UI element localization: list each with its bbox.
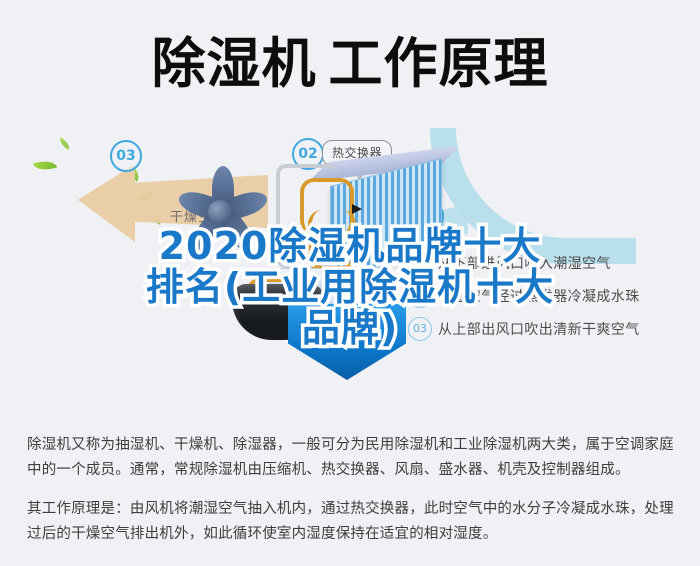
working-principle-diagram: 干燥空气 03 潮湿空气 01 02 热交换器 水箱 [0,118,700,408]
step-number: 03 [408,317,432,341]
title-segment-product: 除湿机 [152,32,317,95]
step-number: 01 [408,251,432,275]
body-paragraph-2: 其工作原理是：由风机将潮湿空气抽入机内，通过热交换器，此时空气中的水分子冷凝成水… [27,497,675,547]
step-number: 02 [408,284,432,308]
fan-hub [208,200,232,224]
leaf-icon [33,157,57,174]
title-text: 除湿机工作原理 [152,37,549,91]
step-text: 潮湿空气经过蒸发器冷凝成水珠 [438,286,640,306]
page-title: 除湿机工作原理 [0,28,700,100]
article-body: 除湿机又称为抽湿机、干燥机、除湿器，一般可分为民用除湿机和工业除湿机两大类，属于… [27,418,675,562]
step-item: 02 潮湿空气经过蒸发器冷凝成水珠 [408,279,694,312]
flow-arrow-icon [352,204,362,214]
leaf-icon [57,137,72,150]
badge-03: 03 [110,140,142,172]
water-tank-icon [288,304,406,380]
step-annotation-list: 01 从下部进风口吸入潮湿空气 02 潮湿空气经过蒸发器冷凝成水珠 03 从上部… [408,246,694,345]
step-text: 从下部进风口吸入潮湿空气 [438,253,611,273]
step-item: 03 从上部出风口吹出清新干爽空气 [408,312,694,345]
title-segment-principle: 工作原理 [329,32,549,95]
body-paragraph-1: 除湿机又称为抽湿机、干燥机、除湿器，一般可分为民用除湿机和工业除湿机两大类，属于… [27,433,675,483]
humid-air-swoosh-icon [430,128,636,264]
page-root: 除湿机工作原理 干燥空气 03 潮湿空气 01 02 热交换器 [0,0,700,566]
water-tank-label: 水箱 [318,318,348,337]
step-item: 01 从下部进风口吸入潮湿空气 [408,246,694,279]
step-text: 从上部出风口吹出清新干爽空气 [438,319,640,339]
fan-icon [168,160,272,264]
